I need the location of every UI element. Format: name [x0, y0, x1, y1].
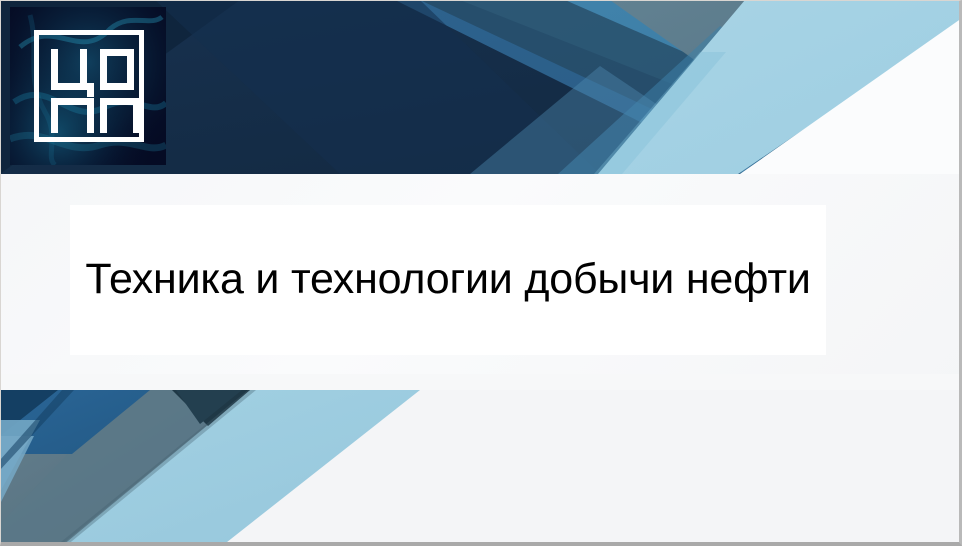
- page-title: Техника и технологии добычи нефти: [71, 253, 824, 307]
- slide-title-box: Техника и технологии добычи нефти: [70, 205, 826, 355]
- bottom-decorative-banner: [0, 374, 962, 546]
- presentation-slide: Техника и технологии добычи нефти: [0, 0, 962, 546]
- copp-monogram-icon: [34, 30, 144, 142]
- logo-tile: [10, 7, 166, 165]
